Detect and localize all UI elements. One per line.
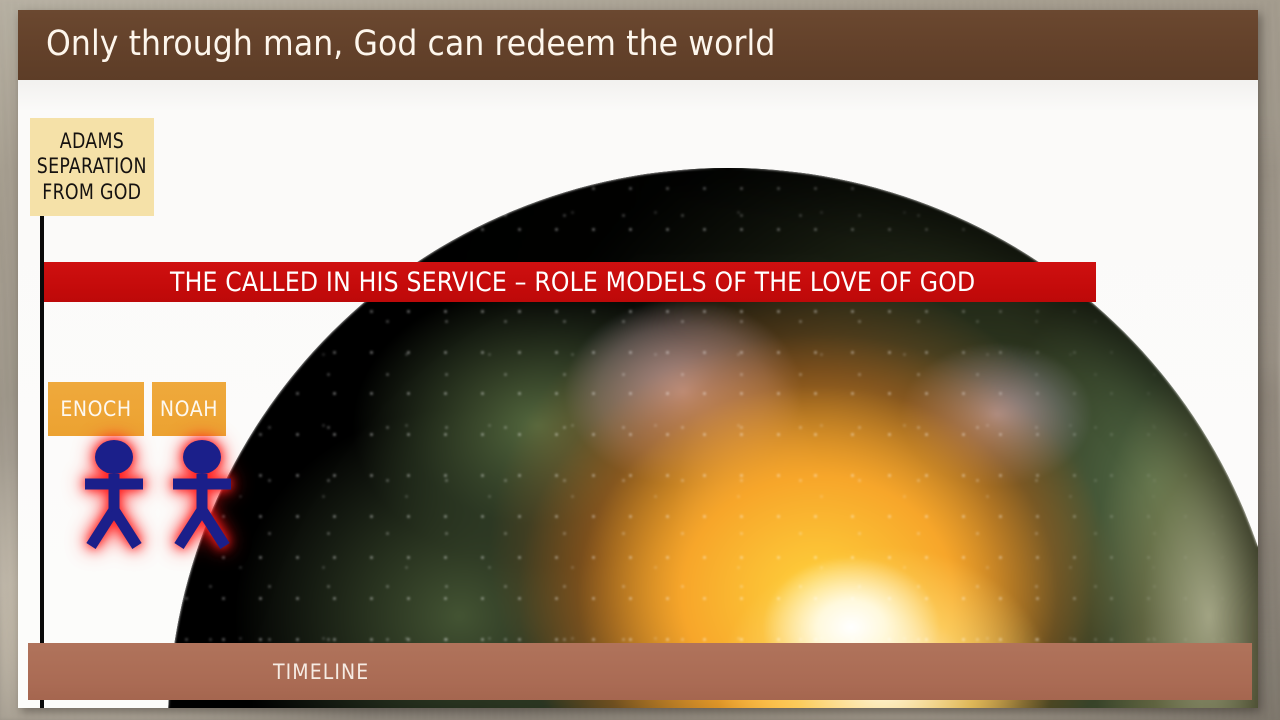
person-icon-enoch: [78, 436, 150, 552]
callout-line-3: FROM GOD: [42, 181, 141, 205]
timeline-label: TIMELINE: [273, 660, 369, 684]
name-tag-enoch[interactable]: ENOCH: [48, 382, 144, 436]
screen-background: Only through man, God can redeem the wor…: [0, 0, 1280, 720]
globe-star-speckles: [168, 168, 1258, 708]
callout-line-2: SEPARATION: [37, 155, 147, 179]
name-tag-noah[interactable]: NOAH: [152, 382, 226, 436]
presentation-slide: Only through man, God can redeem the wor…: [18, 10, 1258, 708]
person-icon: [78, 436, 150, 552]
name-tag-label: NOAH: [160, 397, 218, 421]
slide-title-bar: Only through man, God can redeem the wor…: [18, 10, 1258, 80]
person-icon-noah: [166, 436, 238, 552]
person-icon: [166, 436, 238, 552]
page-title: Only through man, God can redeem the wor…: [46, 27, 775, 62]
red-banner: THE CALLED IN HIS SERVICE – ROLE MODELS …: [44, 262, 1096, 302]
timeline-bar: TIMELINE: [28, 643, 1252, 700]
red-banner-label: THE CALLED IN HIS SERVICE – ROLE MODELS …: [170, 269, 975, 296]
callout-adams-separation[interactable]: ADAMS SEPARATION FROM GOD: [30, 118, 154, 216]
callout-line-1: ADAMS: [60, 130, 124, 154]
slide-body: ADAMS SEPARATION FROM GOD THE CALLED IN …: [18, 80, 1258, 708]
name-tag-label: ENOCH: [60, 397, 131, 421]
vertical-axis-line: [40, 178, 44, 708]
